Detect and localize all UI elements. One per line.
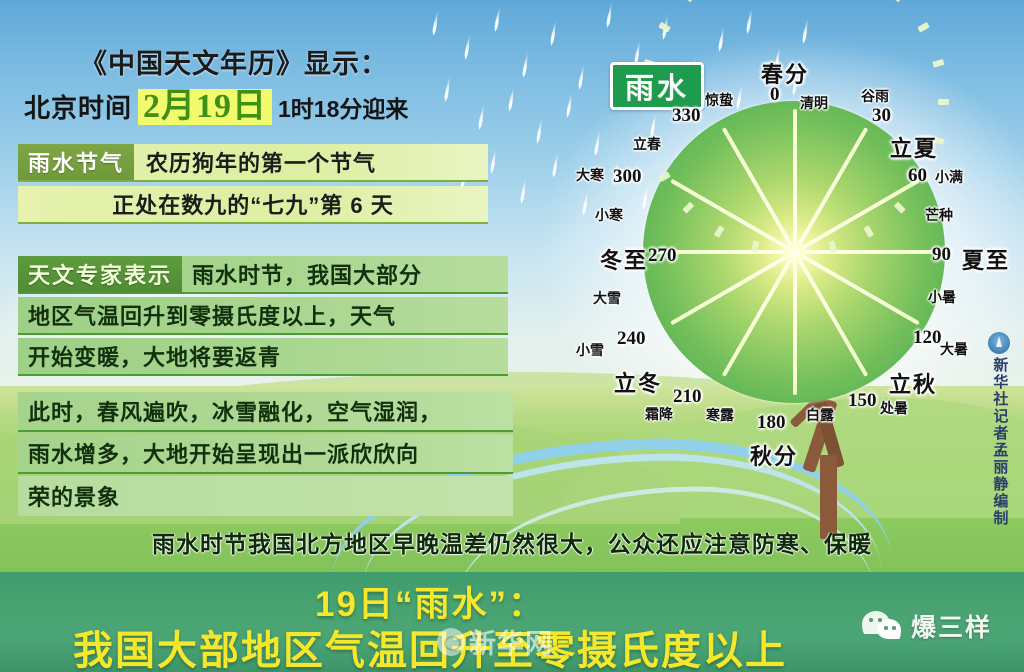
wheel-tick [714,225,725,238]
wheel-label-xiaoxue: 小雪 [576,340,604,360]
wheel-tick [682,202,694,214]
block-c-row-3: 荣的景象 [18,476,513,516]
wheel-spoke [793,127,868,253]
infographic-root: 雨水 春分 0 惊蛰 330 清明 谷雨 30 立夏 60 小满 芒种 90 夏… [0,0,1024,672]
wheel-tick [658,171,671,182]
block-a-row-1: 雨水节气 农历狗年的第一个节气 [18,144,488,182]
wheel-deg-60: 60 [908,165,927,187]
block-b-tag: 天文专家表示 [18,256,182,292]
xinhuanet-watermark-text: 新华网 [469,622,553,661]
xinhuanet-watermark: 新华网 [437,622,553,661]
credit-org: 新华社记者 [991,357,1008,442]
wheel-label-bailu: 白露 [806,405,834,425]
wheel-tick [894,202,906,214]
warning-strip-text: 雨水时节我国北方地区早晚温差仍然很大，公众还应注意防寒、保暖 [152,525,872,559]
block-b-row-1-text: 雨水时节，我国大部分 [182,258,422,290]
wheel-spoke [670,250,796,325]
wheel-label-guyu: 谷雨 [861,86,889,106]
block-a-row-2: 正处在数九的“七九”第 6 天 [18,186,488,224]
wheel-spoke [795,250,938,254]
credit-role: 编制 [991,493,1008,527]
block-b-row-3: 开始变暖，大地将要返青 [18,338,508,376]
wheel-deg-330: 330 [672,105,701,127]
page-title: 《中国天文年历》显示： [80,42,388,81]
header-datetime: 北京时间 2月19日 1时18分迎来 [24,88,408,125]
warning-strip: 雨水时节我国北方地区早晚温差仍然很大，公众还应注意防寒、保暖 [0,522,1024,562]
block-b-row-1: 天文专家表示 雨水时节，我国大部分 [18,256,508,294]
header-beijing-time-label: 北京时间 [24,88,132,125]
wheel-label-lidong: 立冬 [614,366,662,398]
wheel-label-jingzhe: 惊蛰 [705,90,733,110]
credit-rail: 新华社记者 孟丽静 编制 [984,332,1014,527]
block-c: 此时，春风遍吹，冰雪融化，空气湿润， 雨水增多，大地开始呈现出一派欣欣向 荣的景… [18,392,513,518]
header-date-highlight: 2月19日 [138,89,272,125]
block-c-row-2-text: 雨水增多，大地开始呈现出一派欣欣向 [18,437,419,469]
wheel-deg-240: 240 [617,328,646,350]
wheel-tick [863,225,874,238]
wheel-label-dongzhi: 冬至 [600,243,648,275]
yushui-badge: 雨水 [610,62,704,110]
block-a-tag: 雨水节气 [18,144,134,180]
block-c-row-2: 雨水增多，大地开始呈现出一派欣欣向 [18,434,513,474]
wheel-label-xiaoman: 小满 [935,167,963,187]
wechat-account[interactable]: 爆三样 [862,608,992,644]
wechat-account-name: 爆三样 [911,608,992,644]
wheel-deg-270: 270 [648,245,677,267]
wheel-label-mangzhong: 芒种 [925,205,953,225]
wheel-label-liqiu: 立秋 [889,367,937,399]
wheel-label-dashu: 大暑 [940,339,968,359]
wheel-label-chunfen: 春分 [761,57,809,89]
credit-person: 孟丽静 [991,442,1008,493]
block-b: 天文专家表示 雨水时节，我国大部分 地区气温回升到零摄氏度以上，天气 开始变暖，… [18,256,508,379]
block-c-row-3-text: 荣的景象 [18,480,120,512]
wheel-tick [938,99,949,105]
wheel-spoke [793,252,797,395]
block-c-row-1-text: 此时，春风遍吹，冰雪融化，空气湿润， [18,395,442,427]
wheel-label-xiaohan: 小寒 [595,205,623,225]
wheel-deg-300: 300 [613,166,642,188]
wheel-label-chushu: 处暑 [880,398,908,418]
wheel-spoke [793,109,797,252]
wheel-label-hanlu: 寒露 [706,405,734,425]
wheel-label-qingming: 清明 [800,93,828,113]
wheel-label-lixia: 立夏 [890,131,938,163]
wheel-deg-180: 180 [757,412,786,434]
wheel-label-dahan: 大寒 [576,165,604,185]
wheel-label-shuangjiang: 霜降 [645,404,673,424]
block-b-row-2: 地区气温回升到零摄氏度以上，天气 [18,297,508,335]
wheel-deg-90: 90 [932,244,951,266]
block-b-row-2-text: 地区气温回升到零摄氏度以上，天气 [18,299,396,331]
wheel-label-xiazhi: 夏至 [962,243,1010,275]
block-a-row-2-text: 正处在数九的“七九”第 6 天 [18,188,488,220]
banner-line-2: 我国大部地区气温回升至零摄氏度以上 [0,618,860,672]
block-a-row-1-text: 农历狗年的第一个节气 [134,146,376,178]
wheel-deg-0: 0 [770,84,780,106]
wheel-label-daxue: 大雪 [593,288,621,308]
xinhuanet-watermark-icon [437,628,465,656]
wheel-deg-120: 120 [913,327,942,349]
wheel-deg-150: 150 [848,390,877,412]
block-a: 雨水节气 农历狗年的第一个节气 正处在数九的“七九”第 6 天 [18,144,488,228]
wheel-deg-210: 210 [673,386,702,408]
wheel-label-lichun: 立春 [633,134,661,154]
xinhua-logo-icon [988,332,1010,354]
wheel-label-qiufen: 秋分 [750,439,798,471]
wheel-deg-30: 30 [872,105,891,127]
wechat-icon [862,611,904,641]
block-c-row-1: 此时，春风遍吹，冰雪融化，空气湿润， [18,392,513,432]
wheel-label-xiaoshu: 小暑 [928,287,956,307]
wheel-hub [784,242,806,264]
block-b-row-3-text: 开始变暖，大地将要返青 [18,340,281,372]
header-time-detail: 1时18分迎来 [278,90,408,124]
